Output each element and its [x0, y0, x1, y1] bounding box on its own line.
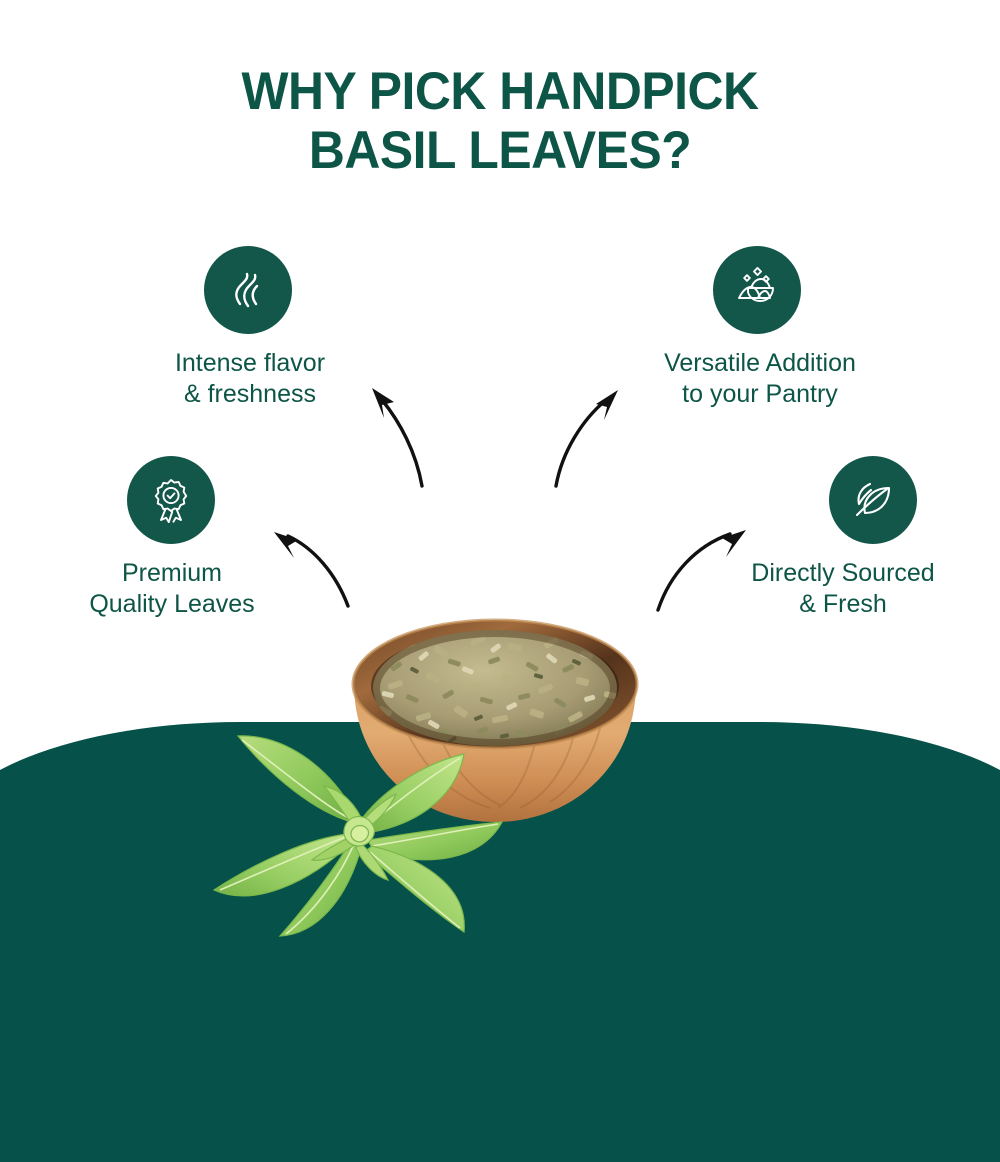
feature-label: Directly Sourced & Fresh [728, 558, 958, 619]
feature-intense-flavor: Intense flavor & freshness [160, 246, 340, 409]
two-leaves-icon [848, 475, 898, 525]
feature-directly-sourced: Directly Sourced & Fresh [728, 456, 958, 619]
feature-premium-quality: Premium Quality Leaves [82, 456, 262, 619]
page-title-line-2: BASIL LEAVES? [30, 121, 970, 180]
feature-icon-circle [829, 456, 917, 544]
page-title-line-1: WHY PICK HANDPICK [30, 62, 970, 121]
feature-label: Premium Quality Leaves [82, 558, 262, 619]
arrow-to-intense-flavor [352, 366, 502, 496]
feature-label: Versatile Addition to your Pantry [640, 348, 880, 409]
feature-versatile-addition: Versatile Addition to your Pantry [640, 246, 880, 409]
feature-icon-circle [127, 456, 215, 544]
aroma-waves-icon [224, 266, 272, 314]
spice-bowl-icon [731, 264, 783, 316]
feature-label: Intense flavor & freshness [160, 348, 340, 409]
fresh-basil-sprig-image [176, 700, 536, 950]
product-infographic: WHY PICK HANDPICK BASIL LEAVES? [0, 0, 1000, 1000]
page-title: WHY PICK HANDPICK BASIL LEAVES? [30, 62, 970, 181]
feature-icon-circle [713, 246, 801, 334]
award-badge-icon [146, 475, 196, 525]
feature-icon-circle [204, 246, 292, 334]
